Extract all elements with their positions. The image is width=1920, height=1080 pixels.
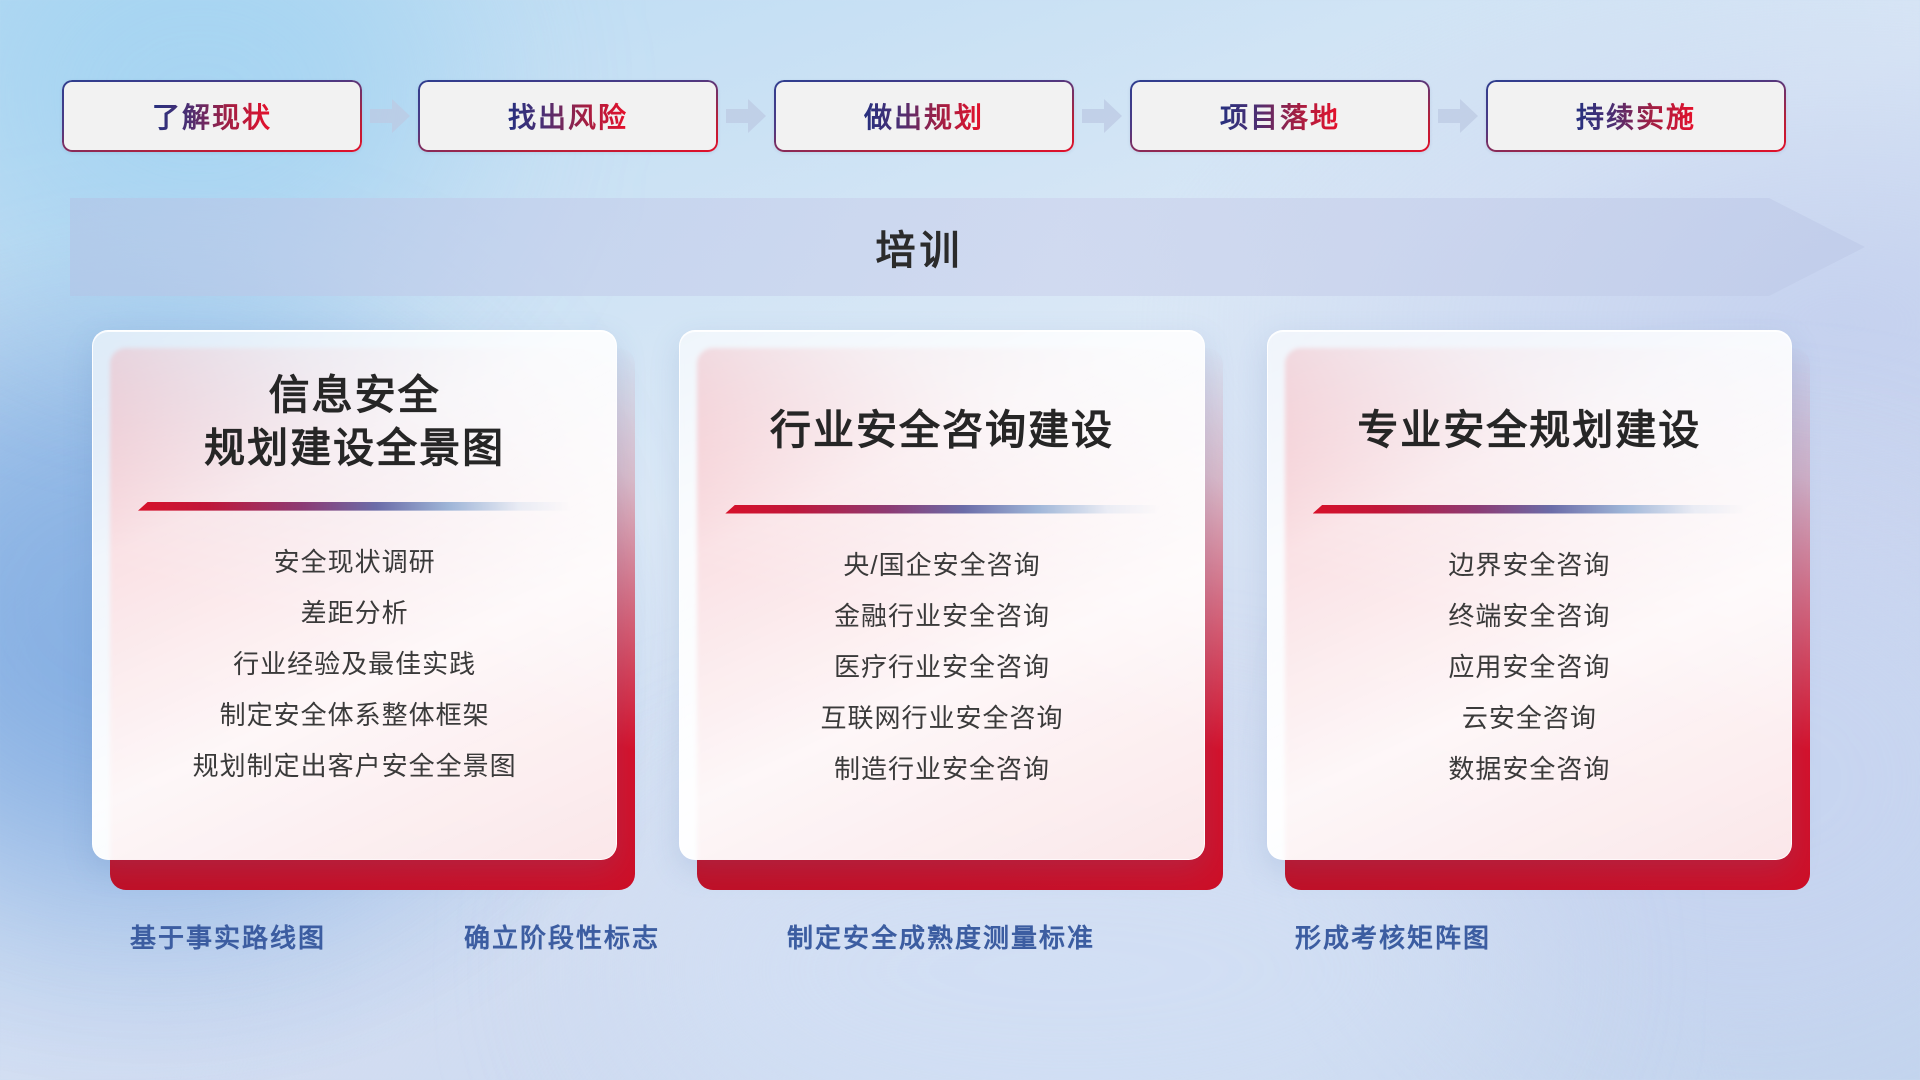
card-title-line: 专业安全规划建设 [1357,403,1701,458]
list-item: 行业经验及最佳实践 [233,643,476,685]
list-item: 数据安全咨询 [1448,748,1610,790]
step-arrow-icon-1 [362,80,418,152]
step-box-5[interactable]: 持续实施 [1486,80,1786,152]
caption-2: 确立阶段性标志 [464,918,660,955]
caption-3: 制定安全成熟度测量标准 [787,918,1095,955]
list-item: 制造行业安全咨询 [834,748,1050,790]
card-wrap-3: 专业安全规划建设 边界安全咨询 终端安全咨询 应用安全咨询 云安全咨询 数据安全… [1285,330,1810,890]
card-list-1: 安全现状调研 差距分析 行业经验及最佳实践 制定安全体系整体框架 规划制定出客户… [121,541,588,788]
card-title-line: 信息安全 [204,369,505,422]
card-1[interactable]: 信息安全 规划建设全景图 安全现状调研 差距分析 行业经验及最佳实践 制定安全体… [92,330,617,860]
step-arrow-icon-3 [1074,80,1130,152]
step-label-4: 项目落地 [1220,96,1340,136]
list-item: 互联网行业安全咨询 [820,697,1063,739]
list-item: 制定安全体系整体框架 [220,694,490,736]
card-list-3: 边界安全咨询 终端安全咨询 应用安全咨询 云安全咨询 数据安全咨询 [1296,544,1763,791]
caption-4: 形成考核矩阵图 [1295,918,1491,955]
list-item: 规划制定出客户安全全景图 [193,745,517,787]
step-label-1: 了解现状 [152,96,272,136]
list-item: 金融行业安全咨询 [834,595,1050,637]
list-item: 差距分析 [301,592,409,634]
caption-1: 基于事实路线图 [130,918,326,955]
list-item: 央/国企安全咨询 [843,544,1040,586]
card-divider-3 [1313,505,1746,514]
list-item: 医疗行业安全咨询 [834,646,1050,688]
step-box-1[interactable]: 了解现状 [62,80,362,152]
card-wrap-1: 信息安全 规划建设全景图 安全现状调研 差距分析 行业经验及最佳实践 制定安全体… [110,330,635,890]
step-box-2[interactable]: 找出风险 [418,80,718,152]
card-title-2: 行业安全咨询建设 [770,369,1114,458]
caption-row: 基于事实路线图 确立阶段性标志 制定安全成熟度测量标准 形成考核矩阵图 [0,918,1920,964]
card-divider-1 [138,502,571,511]
card-title-line: 行业安全咨询建设 [770,403,1114,458]
step-label-5: 持续实施 [1576,96,1696,136]
banner-title: 培训 [70,198,1769,296]
card-3[interactable]: 专业安全规划建设 边界安全咨询 终端安全咨询 应用安全咨询 云安全咨询 数据安全… [1267,330,1792,860]
list-item: 边界安全咨询 [1448,544,1610,586]
card-list-2: 央/国企安全咨询 金融行业安全咨询 医疗行业安全咨询 互联网行业安全咨询 制造行… [708,544,1175,791]
list-item: 云安全咨询 [1462,697,1597,739]
card-title-line: 规划建设全景图 [204,422,505,475]
step-arrow-icon-4 [1430,80,1486,152]
card-divider-2 [725,505,1158,514]
step-box-4[interactable]: 项目落地 [1130,80,1430,152]
card-group: 信息安全 规划建设全景图 安全现状调研 差距分析 行业经验及最佳实践 制定安全体… [110,330,1810,890]
training-banner: 培训 [70,198,1865,296]
list-item: 安全现状调研 [274,541,436,583]
card-wrap-2: 行业安全咨询建设 央/国企安全咨询 金融行业安全咨询 医疗行业安全咨询 互联网行… [697,330,1222,890]
card-title-3: 专业安全规划建设 [1357,369,1701,458]
card-2[interactable]: 行业安全咨询建设 央/国企安全咨询 金融行业安全咨询 医疗行业安全咨询 互联网行… [679,330,1204,860]
step-arrow-icon-2 [718,80,774,152]
list-item: 终端安全咨询 [1448,595,1610,637]
step-label-3: 做出规划 [864,96,984,136]
step-box-3[interactable]: 做出规划 [774,80,1074,152]
list-item: 应用安全咨询 [1448,646,1610,688]
step-flow: 了解现状 找出风险 做出规划 项目落地 持续实施 [62,80,1862,152]
card-title-1: 信息安全 规划建设全景图 [204,369,505,476]
step-label-2: 找出风险 [508,96,628,136]
